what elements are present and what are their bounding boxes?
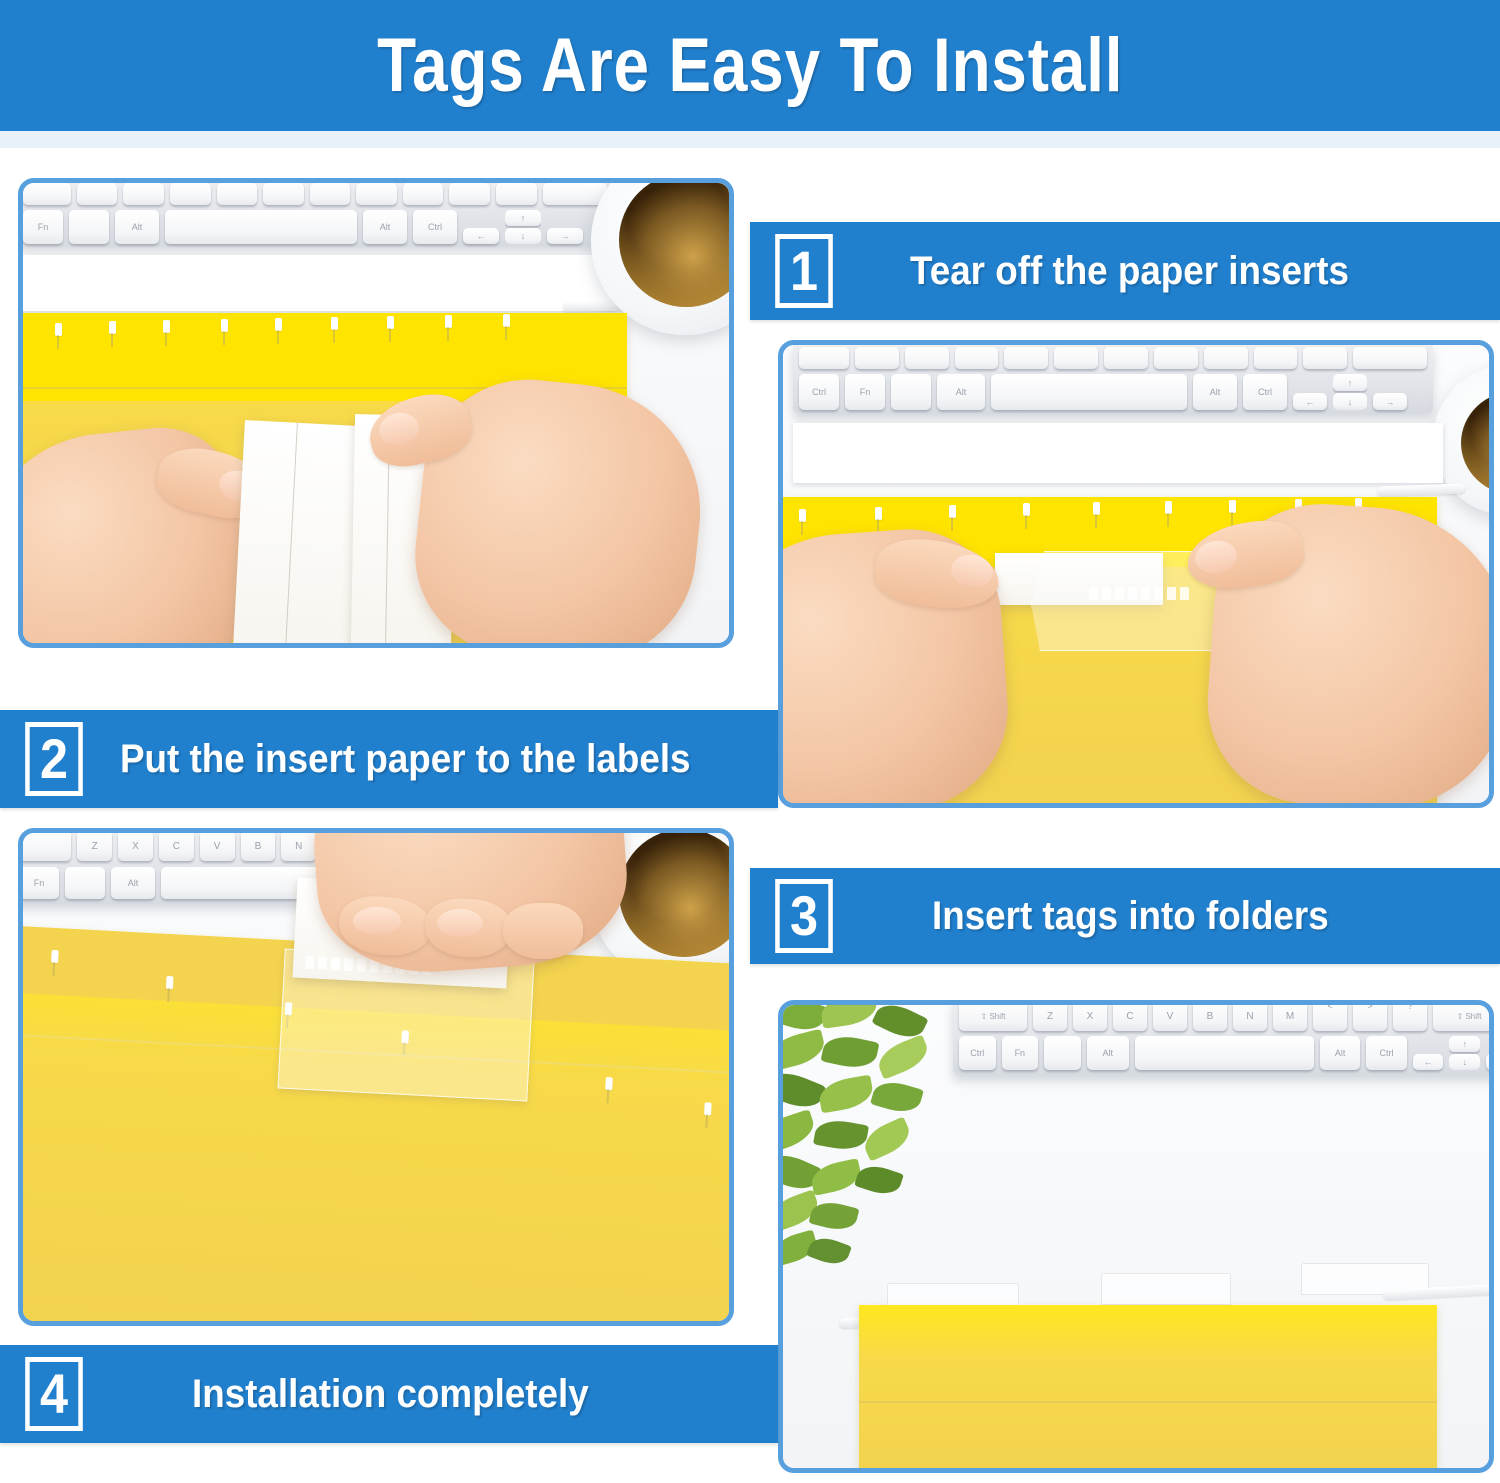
paper-insert-left [233, 420, 363, 648]
tag-tooth [331, 957, 341, 970]
keyboard: Ctrl Fn Alt Alt Ctrl ← ↑ ↓ → [793, 343, 1433, 413]
plant-leaf [854, 1161, 904, 1199]
tag-teeth [1089, 587, 1189, 600]
folder-hook [387, 316, 394, 329]
key-blank [1104, 347, 1148, 369]
folder-hook [51, 950, 59, 963]
tag-tooth [305, 956, 315, 969]
folder-hook [503, 314, 510, 327]
folder-hook [166, 976, 174, 989]
hanging-folder [859, 1305, 1437, 1473]
key-arrow-down: ↓ [505, 228, 541, 244]
step-3-label: Insert tags into folders [932, 894, 1329, 939]
key-blank [310, 183, 351, 205]
folder-hook [1023, 503, 1030, 516]
tag-tooth [1167, 587, 1176, 600]
fingernail [353, 907, 401, 935]
key-alt: Alt [111, 867, 155, 899]
key-space [991, 374, 1187, 410]
key-arrow-up: ↑ [505, 210, 541, 226]
key-ctrl-left: Ctrl [799, 374, 839, 410]
key-alt-right: Alt [363, 210, 407, 244]
step-2-banner: 2 Put the insert paper to the labels [0, 710, 778, 808]
folder-hook [445, 315, 452, 328]
tag-tooth [1180, 587, 1189, 600]
key-c: C [1113, 1001, 1147, 1031]
folder-hook [949, 505, 956, 518]
folder-fold-line [859, 1401, 1437, 1403]
plant-leaf [778, 1029, 828, 1072]
key-m: M [1273, 1001, 1307, 1031]
key-fn: Fn [23, 210, 63, 244]
step-4-banner: 4 Installation completely [0, 1345, 778, 1443]
step-3-number: 3 [775, 879, 833, 953]
step-4-photo: ⇧ Shift Z X C V B N M < > ? ⇧ Shift Ctrl… [778, 1000, 1494, 1473]
key-blank [1204, 347, 1248, 369]
folder-hook [875, 507, 882, 520]
key-b: B [241, 831, 276, 861]
key-arrow-up: ↑ [1333, 374, 1367, 391]
step-2-number: 2 [25, 722, 83, 796]
key-alt-left: Alt [1087, 1036, 1129, 1070]
key-blank [77, 183, 118, 205]
key-v: V [200, 831, 235, 861]
key-blank [170, 183, 211, 205]
key-arrow-up: ↑ [1449, 1036, 1480, 1052]
tag-tooth [1154, 587, 1163, 600]
folder-hook [163, 320, 170, 333]
key-arrow-left: ← [463, 228, 499, 244]
step-1-number: 1 [775, 234, 833, 308]
key-comma: < [1313, 1001, 1347, 1031]
step-2-label: Put the insert paper to the labels [120, 737, 691, 782]
key-arrow-down: ↓ [1449, 1054, 1480, 1070]
key-z: Z [77, 831, 112, 861]
tag-tooth [357, 958, 367, 971]
page-title: Tags Are Easy To Install [377, 22, 1123, 109]
key-blank [403, 183, 444, 205]
key-fn: Fn [19, 867, 59, 899]
paper-sheet [18, 255, 617, 311]
key-n: N [1233, 1001, 1267, 1031]
tag-tooth [1115, 587, 1124, 600]
header-accent-strip [0, 131, 1500, 148]
plant-leaf [817, 1075, 875, 1114]
plant-leaf [870, 1077, 924, 1117]
key-n: N [281, 831, 316, 861]
key-fn: Fn [845, 374, 885, 410]
folder-hook [221, 319, 228, 332]
key-blank [23, 183, 71, 205]
tag-tooth [1128, 587, 1137, 600]
plant-leaf [813, 1117, 869, 1154]
key-blank [263, 183, 304, 205]
key-blank [69, 210, 109, 244]
key-blank [356, 183, 397, 205]
folder-hook [109, 321, 116, 334]
key-blank [1254, 347, 1298, 369]
key-ctrl-right: Ctrl [1366, 1036, 1406, 1070]
tag-tooth [318, 956, 328, 969]
key-shift-right: ⇧ Shift [1433, 1001, 1494, 1031]
key-ctrl-right: Ctrl [413, 210, 457, 244]
key-blank [855, 347, 899, 369]
key-alt-left: Alt [115, 210, 159, 244]
key-arrow-left: ← [1293, 393, 1327, 410]
folder-hook [1165, 501, 1172, 514]
folder-hook [1093, 502, 1100, 515]
finger-ring [503, 903, 583, 959]
tag-tooth [1102, 587, 1111, 600]
key-blank [1353, 347, 1427, 369]
step-3-photo: Z X C V B N M Fn Alt [18, 828, 734, 1326]
step-1-photo: Fn Alt Alt Ctrl ← ↑ ↓ → [18, 178, 734, 648]
folder-hook [704, 1102, 712, 1115]
key-blank [543, 183, 608, 205]
key-b: B [1193, 1001, 1227, 1031]
step-1-banner: 1 Tear off the paper inserts [750, 222, 1500, 320]
key-blank [955, 347, 999, 369]
folder-hook [1229, 500, 1236, 513]
key-alt-left: Alt [937, 374, 985, 410]
key-blank [1054, 347, 1098, 369]
step-4-number: 4 [25, 1357, 83, 1431]
folder-hook [605, 1077, 613, 1090]
fingernail [437, 909, 483, 937]
plant-leaf [819, 1000, 879, 1029]
plant-leaf [874, 1034, 933, 1079]
folder-hook [275, 318, 282, 331]
key-blank [1004, 347, 1048, 369]
key-x: X [118, 831, 153, 861]
step-2-photo: Ctrl Fn Alt Alt Ctrl ← ↑ ↓ → [778, 340, 1494, 808]
key-z: Z [1033, 1001, 1067, 1031]
key-blank [496, 183, 537, 205]
key-ctrl-right: Ctrl [1243, 374, 1287, 410]
folder-tab [1101, 1273, 1231, 1305]
keyboard: Fn Alt Alt Ctrl ← ↑ ↓ → [18, 179, 613, 245]
step-3-banner: 3 Insert tags into folders [750, 868, 1500, 964]
key-arrow-right: → [1486, 1054, 1494, 1070]
key-blank [905, 347, 949, 369]
key-blank [1044, 1036, 1081, 1070]
key-arrow-right: → [1373, 393, 1407, 410]
key-blank [799, 347, 849, 369]
plant-leaf [778, 1109, 818, 1155]
plant-leaf [820, 1032, 879, 1073]
key-blank [123, 183, 164, 205]
key-c: C [159, 831, 194, 861]
tag-tooth [344, 958, 354, 971]
key-blank [217, 183, 258, 205]
key-space [1135, 1036, 1314, 1070]
tag-tooth [1141, 587, 1150, 600]
key-blank [891, 374, 931, 410]
folder-hook [55, 323, 62, 336]
key-x: X [1073, 1001, 1107, 1031]
key-blank [449, 183, 490, 205]
key-period: > [1353, 1001, 1387, 1031]
key-v: V [1153, 1001, 1187, 1031]
paper-sheet [793, 423, 1443, 483]
page-header: Tags Are Easy To Install [0, 0, 1500, 131]
step-1-label: Tear off the paper inserts [910, 249, 1349, 294]
plant-leaf [809, 1158, 864, 1196]
step-4-label: Installation completely [192, 1372, 589, 1417]
key-alt-right: Alt [1320, 1036, 1360, 1070]
key-arrow-right: → [547, 228, 583, 244]
folder-hook [331, 317, 338, 330]
folder-hook [799, 509, 806, 522]
key-slash: ? [1393, 1001, 1427, 1031]
keyboard: ⇧ Shift Z X C V B N M < > ? ⇧ Shift Ctrl… [953, 1000, 1494, 1075]
tag-tooth [1089, 587, 1098, 600]
key-arrow-left: ← [1413, 1054, 1444, 1070]
key-alt-right: Alt [1193, 374, 1237, 410]
key-arrow-down: ↓ [1333, 393, 1367, 410]
key-space [165, 210, 357, 244]
key-blank [65, 867, 105, 899]
key-blank [1154, 347, 1198, 369]
key-blank [19, 831, 71, 861]
plant-leaf [859, 1116, 914, 1161]
plant-leaf [778, 1065, 827, 1115]
key-blank [1303, 347, 1347, 369]
